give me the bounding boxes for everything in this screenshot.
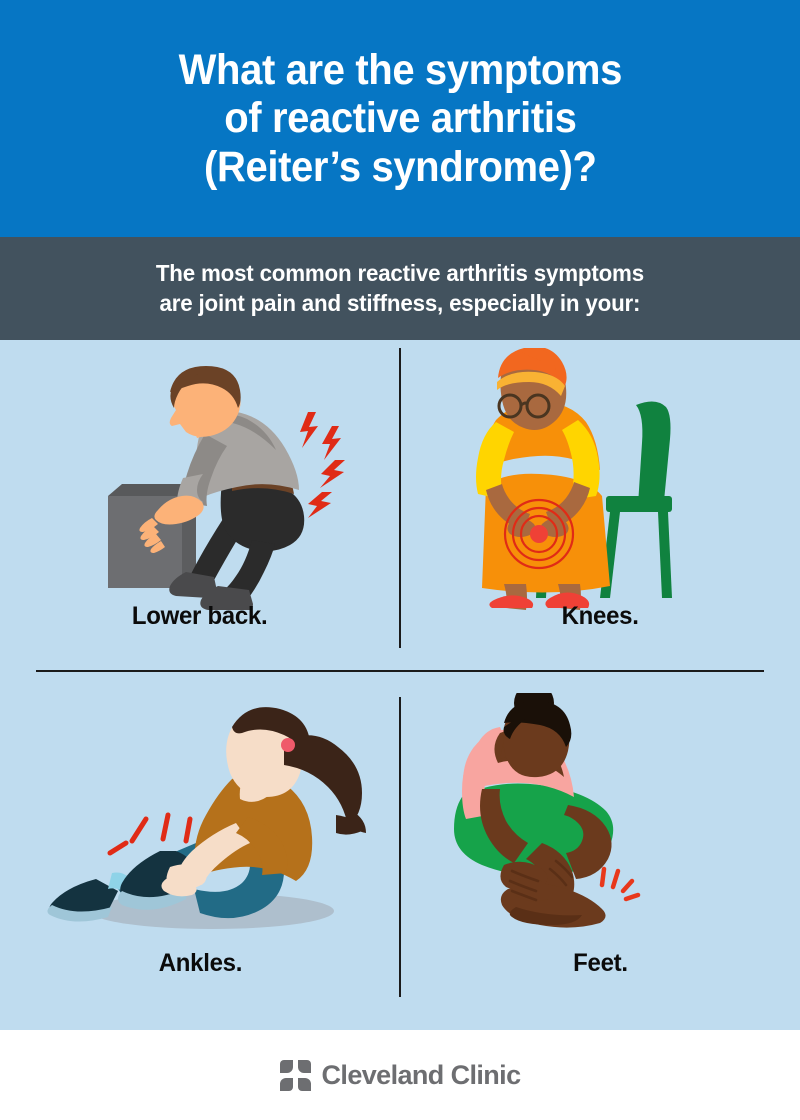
symptom-grid: Lower back. bbox=[0, 340, 800, 1030]
logo-square-bottom-left bbox=[280, 1078, 293, 1091]
illustration-woman-sitting-ankle-pain bbox=[0, 693, 400, 955]
illustration-woman-crouching-foot-pain bbox=[400, 693, 800, 955]
logo-square-top-left bbox=[280, 1060, 293, 1073]
panel-label-feet: Feet. bbox=[573, 949, 628, 978]
subheading-text: The most common reactive arthritis sympt… bbox=[127, 259, 672, 318]
pain-burst-lines bbox=[110, 815, 190, 853]
panel-feet: Feet. bbox=[400, 685, 800, 1030]
panel-lower-back: Lower back. bbox=[0, 340, 400, 685]
panel-label-ankles: Ankles. bbox=[158, 949, 241, 978]
hair-tie bbox=[281, 738, 295, 752]
logo-square-bottom-right bbox=[298, 1078, 311, 1091]
panel-ankles: Ankles. bbox=[0, 685, 400, 1030]
subheading-band: The most common reactive arthritis sympt… bbox=[0, 237, 800, 340]
pain-burst-lines bbox=[602, 869, 638, 899]
header-band: What are the symptoms of reactive arthri… bbox=[0, 0, 800, 237]
panel-label-knees: Knees. bbox=[562, 602, 639, 631]
sneaker-back bbox=[47, 879, 118, 922]
pain-center-dot bbox=[530, 525, 548, 543]
page-title: What are the symptoms of reactive arthri… bbox=[141, 46, 659, 190]
illustration-man-lifting-box bbox=[0, 348, 400, 610]
illustration-woman-seated-knee-pain bbox=[400, 348, 800, 610]
brand-name: Cleveland Clinic bbox=[322, 1060, 521, 1091]
infographic-root: What are the symptoms of reactive arthri… bbox=[0, 0, 800, 1120]
footer-brand-bar: Cleveland Clinic bbox=[0, 1030, 800, 1120]
logo-square-top-right bbox=[298, 1060, 311, 1073]
panel-knees: Knees. bbox=[400, 340, 800, 685]
panel-label-lower-back: Lower back. bbox=[132, 602, 268, 631]
cleveland-clinic-logo-icon bbox=[280, 1060, 311, 1091]
pain-lightning-bolts bbox=[300, 412, 345, 518]
